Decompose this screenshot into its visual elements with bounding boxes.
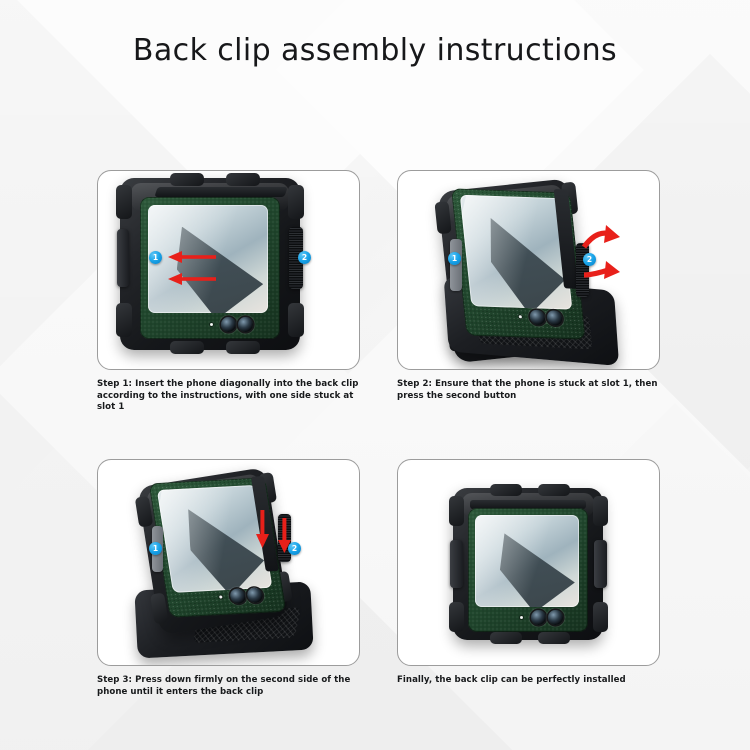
slot-1-button bbox=[450, 540, 463, 588]
step-3-panel: 1 2 bbox=[97, 459, 360, 666]
step-1-caption: Step 1: Insert the phone diagonally into… bbox=[97, 379, 369, 414]
step-3-caption: Step 3: Press down firmly on the second … bbox=[97, 675, 369, 698]
slot-2-clip bbox=[594, 540, 607, 588]
step-2-cell: 1 2 Step 2: Ensure that the phone is stu… bbox=[397, 170, 669, 402]
step-1-arrows bbox=[98, 171, 359, 369]
step-2-caption: Step 2: Ensure that the phone is stuck a… bbox=[397, 379, 669, 402]
step-4-panel bbox=[397, 459, 660, 666]
step-4-caption: Finally, the back clip can be perfectly … bbox=[397, 675, 669, 687]
instruction-sheet: Back clip assembly instructions bbox=[0, 0, 750, 750]
step-3-illustration: 1 2 bbox=[98, 460, 359, 665]
step-4-cell: Finally, the back clip can be perfectly … bbox=[397, 459, 669, 687]
slot-1-badge: 1 bbox=[149, 542, 162, 555]
slot-2-badge: 2 bbox=[288, 542, 301, 555]
slot-1-badge: 1 bbox=[448, 252, 461, 265]
step-1-panel: 1 2 bbox=[97, 170, 360, 370]
step-3-arrows bbox=[98, 460, 359, 665]
step-4-illustration bbox=[398, 460, 659, 665]
step-1-cell: 1 2 Step 1: Insert the phone diagonally … bbox=[97, 170, 369, 414]
slot-1-badge: 1 bbox=[149, 251, 162, 264]
step-3-cell: 1 2 Step 3: Press down firmly on the sec… bbox=[97, 459, 369, 698]
slot-2-badge: 2 bbox=[298, 251, 311, 264]
page-title: Back clip assembly instructions bbox=[0, 33, 750, 68]
slot-2-badge: 2 bbox=[583, 253, 596, 266]
step-2-panel: 1 2 bbox=[397, 170, 660, 370]
step-1-illustration: 1 2 bbox=[98, 171, 359, 369]
step-2-illustration: 1 2 bbox=[398, 171, 659, 369]
step-2-arrows bbox=[398, 171, 659, 369]
